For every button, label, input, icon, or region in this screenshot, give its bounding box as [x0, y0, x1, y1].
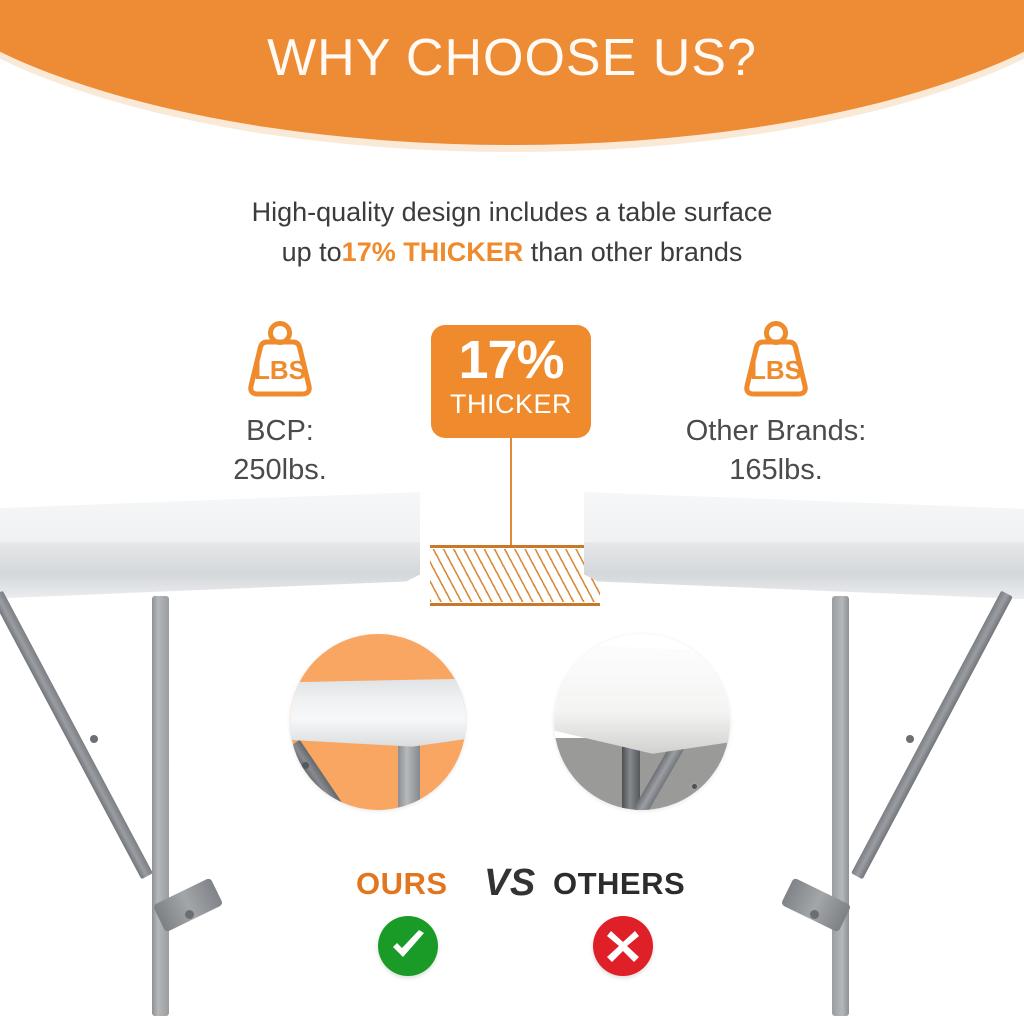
hatched-thickness-block — [430, 545, 600, 606]
brace-rivet-icon — [810, 910, 819, 919]
others-label: OTHERS — [553, 866, 685, 902]
table-edge — [584, 542, 1024, 600]
subtitle-block: High-quality design includes a table sur… — [0, 192, 1024, 272]
check-mark-icon — [378, 916, 438, 976]
table-brace — [851, 591, 1013, 880]
lbs-icon-text: LBS — [750, 355, 802, 385]
table-leg — [152, 596, 169, 1016]
stat-label-line-1: BCP: — [160, 412, 400, 451]
subtitle-suffix: than other brands — [523, 237, 742, 267]
hatch-line-top — [430, 545, 600, 548]
badge-percent: 17% — [431, 331, 591, 389]
brace-rivet-icon — [90, 735, 98, 743]
detail-thick-tabletop — [290, 678, 466, 756]
stat-block-ours: LBS BCP: 250lbs. — [160, 320, 400, 490]
vs-label: VS — [484, 862, 536, 905]
detail-circle-others — [554, 634, 730, 810]
hatch-line-bottom — [430, 603, 600, 606]
comparison-label-row: OURS VS OTHERS — [0, 866, 1024, 910]
subtitle-prefix: up to — [282, 237, 342, 267]
lbs-icon-text: LBS — [254, 355, 306, 385]
table-brace — [0, 591, 153, 880]
stat-label-line-1: Other Brands: — [656, 412, 896, 451]
brace-rivet-icon — [906, 735, 914, 743]
subtitle-highlight: 17% THICKER — [342, 237, 524, 267]
weight-lbs-icon: LBS — [732, 320, 820, 406]
badge-pointer-line — [510, 438, 512, 546]
detail-circle-ours — [290, 634, 466, 810]
subtitle-line-1: High-quality design includes a table sur… — [0, 192, 1024, 232]
page-title: WHY CHOOSE US? — [0, 28, 1024, 88]
table-leg — [832, 596, 849, 1016]
table-edge — [0, 542, 420, 600]
cross-mark-icon — [593, 916, 653, 976]
badge-word: THICKER — [431, 389, 591, 419]
weight-lbs-icon: LBS — [236, 320, 324, 406]
brace-rivet-icon — [185, 910, 194, 919]
infographic-canvas: WHY CHOOSE US? High-quality design inclu… — [0, 0, 1024, 1024]
check-glyph — [378, 916, 438, 976]
detail-leg — [398, 744, 420, 810]
cross-glyph — [593, 916, 653, 976]
detail-rivet-icon — [302, 762, 309, 769]
detail-rivet-icon — [690, 782, 699, 791]
ours-label: OURS — [356, 866, 448, 902]
subtitle-line-2: up to17% THICKER than other brands — [0, 232, 1024, 272]
thickness-badge: 17% THICKER — [431, 325, 591, 438]
hatch-fill — [430, 549, 600, 602]
stat-block-others: LBS Other Brands: 165lbs. — [656, 320, 896, 490]
